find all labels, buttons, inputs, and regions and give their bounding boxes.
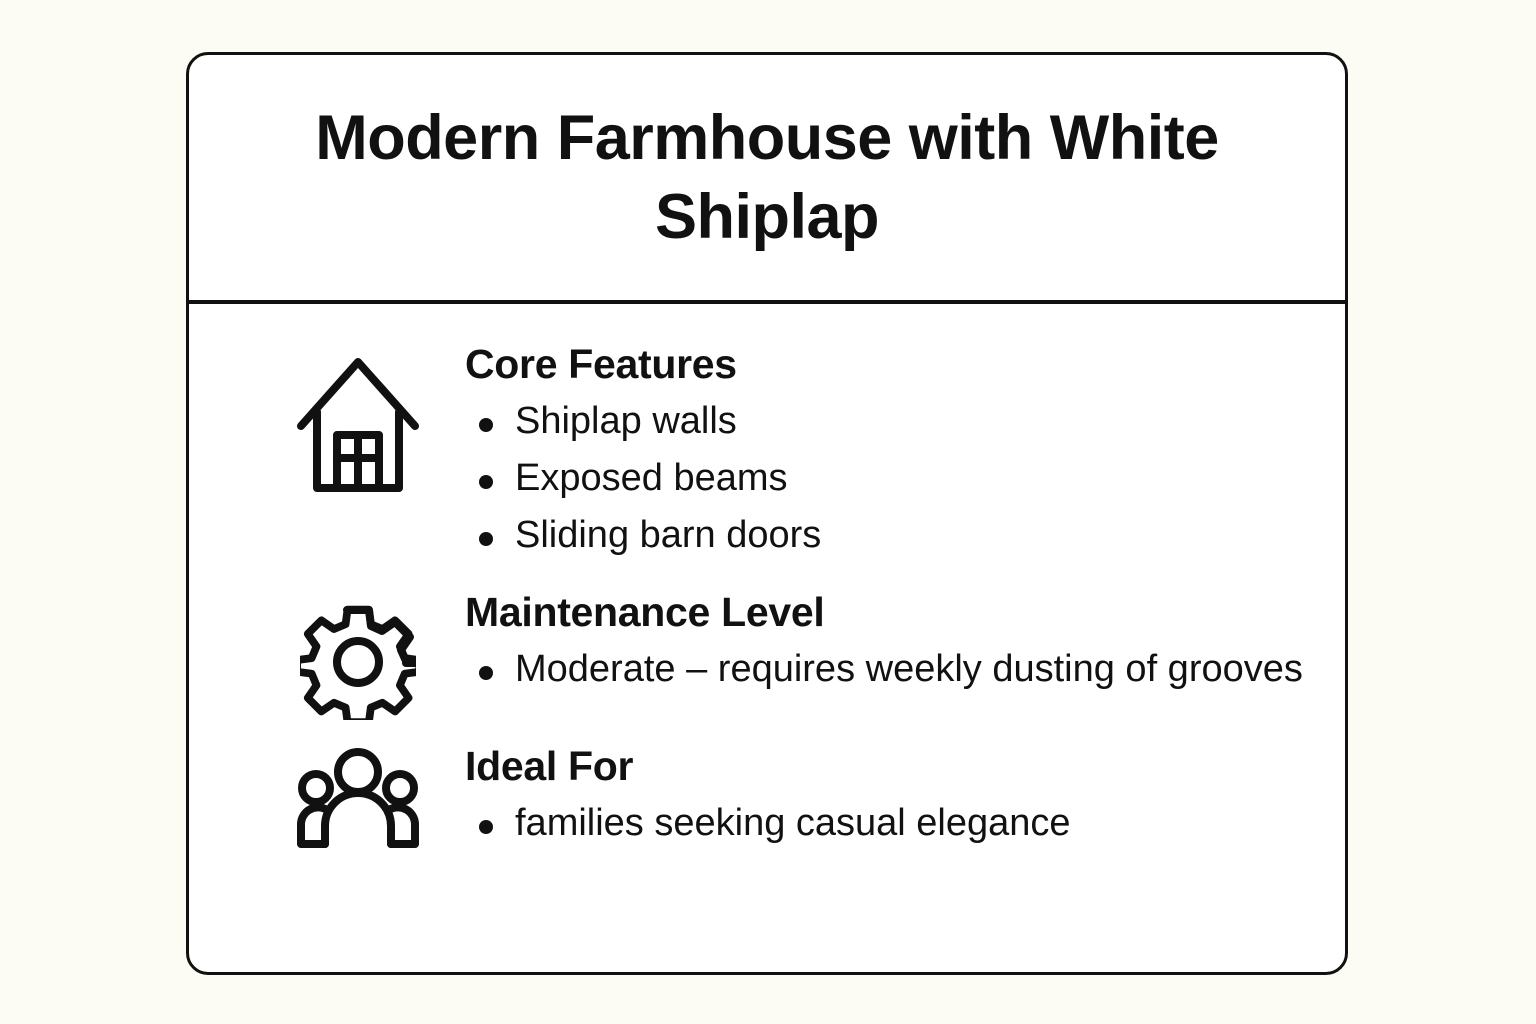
list-item: families seeking casual elegance xyxy=(465,796,1315,852)
list-item: Sliding barn doors xyxy=(465,508,1315,564)
card-header: Modern Farmhouse with White Shiplap xyxy=(189,55,1345,304)
section-text: Core Features Shiplap walls Exposed beam… xyxy=(423,342,1315,564)
section-heading: Core Features xyxy=(465,342,1315,388)
section-text: Maintenance Level Moderate – requires we… xyxy=(423,590,1315,699)
info-card: Modern Farmhouse with White Shiplap Core… xyxy=(186,52,1348,975)
house-icon xyxy=(293,342,423,492)
people-icon xyxy=(293,744,423,848)
section-core-features: Core Features Shiplap walls Exposed beam… xyxy=(293,342,1315,564)
section-heading: Ideal For xyxy=(465,744,1315,790)
section-text: Ideal For families seeking casual elegan… xyxy=(423,744,1315,853)
section-ideal-for: Ideal For families seeking casual elegan… xyxy=(293,744,1315,853)
bullet-list: families seeking casual elegance xyxy=(465,796,1315,852)
bullet-list: Moderate – requires weekly dusting of gr… xyxy=(465,642,1315,698)
section-heading: Maintenance Level xyxy=(465,590,1315,636)
page-title: Modern Farmhouse with White Shiplap xyxy=(292,99,1242,257)
infographic-canvas: Modern Farmhouse with White Shiplap Core… xyxy=(0,0,1536,1024)
card-body: Core Features Shiplap walls Exposed beam… xyxy=(189,304,1345,853)
section-maintenance-level: Maintenance Level Moderate – requires we… xyxy=(293,590,1315,720)
bullet-list: Shiplap walls Exposed beams Sliding barn… xyxy=(465,394,1315,564)
list-item: Moderate – requires weekly dusting of gr… xyxy=(465,642,1315,698)
list-item: Shiplap walls xyxy=(465,394,1315,450)
list-item: Exposed beams xyxy=(465,451,1315,507)
gear-icon xyxy=(293,590,423,720)
